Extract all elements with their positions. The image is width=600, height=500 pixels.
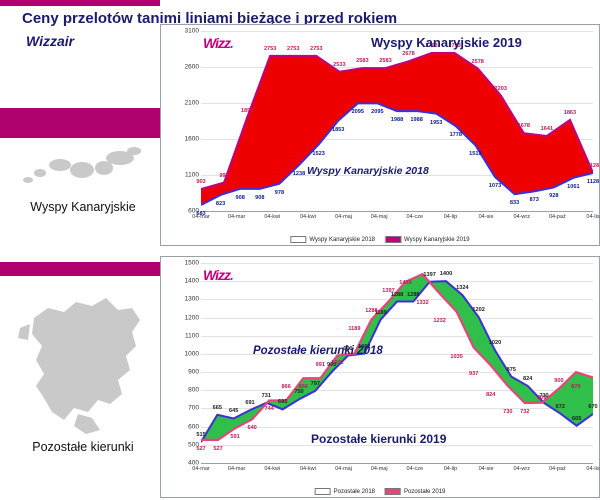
data-label: 2583: [356, 58, 368, 64]
y-axis-tick: 1500: [163, 260, 199, 267]
data-label: 1061: [567, 184, 579, 190]
wizzair-logo-top: Wizz.: [203, 35, 233, 51]
area-fill: [201, 274, 593, 442]
legend-label: Wyspy Kanaryjskie 2018: [309, 237, 375, 243]
data-label: 1523: [312, 151, 324, 157]
legend-swatch: [385, 236, 401, 243]
data-label: 875: [507, 367, 516, 373]
chart-other-legend: Pozostałe 2018Pozostałe 2019: [315, 488, 446, 495]
data-label: 1035: [450, 354, 462, 360]
data-label: 2678: [402, 51, 414, 57]
data-label: 2753: [287, 46, 299, 52]
series-line: [201, 281, 593, 442]
data-label: 1324: [456, 285, 468, 291]
y-axis-tick: 500: [163, 441, 199, 448]
legend-swatch: [315, 488, 331, 495]
data-label: 527: [196, 446, 205, 452]
x-axis-tick: 04-cze: [407, 214, 424, 220]
data-label: 809: [537, 395, 546, 401]
y-axis-tick: 900: [163, 369, 199, 376]
chart-canary-title: Wyspy Kanaryjskie 2019: [371, 35, 522, 50]
x-axis-tick: 04-lip: [444, 214, 457, 220]
legend-item[interactable]: Wyspy Kanaryjskie 2019: [385, 236, 470, 243]
x-axis-tick: 04-lip: [444, 466, 457, 472]
data-label: 527: [213, 446, 222, 452]
accent-band-top: [0, 0, 160, 6]
data-label: 1863: [564, 110, 576, 116]
accent-band-bottom: [0, 262, 160, 276]
data-label: 1073: [489, 183, 501, 189]
data-label: 833: [510, 200, 519, 206]
label-other-destinations: Pozostałe kierunki: [8, 440, 158, 454]
data-label: 1641: [541, 126, 553, 132]
area-fill: [201, 53, 593, 205]
data-label: 1128: [587, 179, 599, 185]
chart-other-inner-label-2018: Pozostałe kierunki 2018: [253, 345, 383, 357]
y-axis-tick: 1100: [163, 332, 199, 339]
legend-item[interactable]: Pozostałe 2018: [315, 488, 375, 495]
data-label: 1953: [430, 120, 442, 126]
data-label: 870: [571, 384, 580, 390]
data-label: 937: [469, 371, 478, 377]
europe-map: [14, 288, 150, 438]
data-label: 993: [219, 173, 228, 179]
data-label: 605: [572, 416, 581, 422]
accent-band-middle: [0, 108, 160, 138]
y-axis-tick: 2600: [163, 64, 199, 71]
data-label: 2203: [495, 86, 507, 92]
data-label: 2583: [379, 58, 391, 64]
legend-label: Pozostałe 2019: [404, 489, 445, 495]
x-axis-tick: 04-mar: [192, 214, 209, 220]
data-label: 691: [245, 400, 254, 406]
data-label: 1400: [440, 271, 452, 277]
data-label: 1128: [587, 163, 599, 169]
y-axis-tick: 1300: [163, 296, 199, 303]
legend-item[interactable]: Pozostałe 2019: [385, 488, 445, 495]
data-label: 866: [282, 384, 291, 390]
data-label: 1232: [433, 318, 445, 324]
y-axis-tick: 1600: [163, 136, 199, 143]
x-axis-tick: 04-maj: [371, 214, 388, 220]
data-label: 1288: [407, 292, 419, 298]
data-label: 824: [523, 376, 532, 382]
x-axis-tick: 04-lis: [586, 214, 599, 220]
x-axis-tick: 04-paź: [549, 466, 566, 472]
data-label: 2753: [264, 46, 276, 52]
y-axis-tick: 2100: [163, 100, 199, 107]
wizz-dot-bottom: .: [230, 267, 233, 283]
x-axis-tick: 04-kwi: [300, 214, 316, 220]
chart-canary-inner-label-2018: Wyspy Kanaryjskie 2018: [307, 165, 429, 177]
x-axis-tick: 04-cze: [407, 466, 424, 472]
left-info-panel: Wyspy Kanaryjskie Pozostałe kierunki: [0, 0, 160, 500]
wizz-dot-top: .: [230, 35, 233, 51]
x-axis-line: [201, 211, 593, 212]
data-label: 665: [213, 405, 222, 411]
legend-swatch: [385, 488, 401, 495]
data-label: 2095: [352, 109, 364, 115]
legend-item[interactable]: Wyspy Kanaryjskie 2018: [290, 236, 375, 243]
chart-canary-islands: 6001100160021002600310068382390890897812…: [160, 24, 600, 246]
data-label: 903: [196, 179, 205, 185]
x-axis-tick: 04-mar: [228, 466, 245, 472]
data-label: 908: [236, 195, 245, 201]
legend-label: Pozostałe 2018: [334, 489, 375, 495]
y-axis-tick: 600: [163, 423, 199, 430]
canary-islands-map: [12, 140, 152, 200]
x-axis-tick: 04-kwi: [264, 466, 280, 472]
wizz-wordmark-bottom: Wizz: [203, 267, 230, 283]
chart-canary-legend: Wyspy Kanaryjskie 2018Wyspy Kanaryjskie …: [290, 236, 469, 243]
y-axis-tick: 1400: [163, 278, 199, 285]
x-axis-tick: 04-mar: [228, 214, 245, 220]
wizzair-logo-bottom: Wizz.: [203, 267, 233, 283]
x-axis-tick: 04-mar: [192, 466, 209, 472]
data-label: 1397: [382, 288, 394, 294]
data-label: 1853: [332, 127, 344, 133]
y-axis-tick: 1200: [163, 314, 199, 321]
data-label: 1397: [423, 272, 435, 278]
x-axis-tick: 04-wrz: [513, 214, 530, 220]
data-label: 645: [229, 408, 238, 414]
data-label: 731: [262, 393, 271, 399]
data-label: 900: [554, 378, 563, 384]
data-label: 2578: [471, 59, 483, 65]
data-label: 1288: [365, 308, 377, 314]
data-label: 730: [503, 409, 512, 415]
data-label: 908: [255, 195, 264, 201]
x-axis-tick: 04-sie: [479, 466, 494, 472]
chart-canary-plot-area: 6001100160021002600310068382390890897812…: [201, 31, 593, 211]
x-axis-line: [201, 463, 593, 464]
legend-label: Wyspy Kanaryjskie 2019: [404, 237, 470, 243]
data-label: 2753: [310, 46, 322, 52]
data-label: 866: [299, 384, 308, 390]
data-label: 640: [247, 425, 256, 431]
data-label: 1189: [348, 326, 360, 332]
data-label: 1778: [450, 132, 462, 138]
y-axis-tick: 3100: [163, 28, 199, 35]
data-label: 1020: [489, 340, 501, 346]
chart-other-inner-label-2019: Pozostałe kierunki 2019: [311, 432, 446, 446]
chart-other-destinations: 4005006007008009001000110012001300140015…: [160, 256, 600, 498]
data-label: 515: [196, 432, 205, 438]
x-axis-tick: 04-lis: [586, 466, 599, 472]
data-label: 744: [265, 406, 274, 412]
x-axis-tick: 04-maj: [335, 466, 352, 472]
page-subtitle: Wizzair: [26, 33, 74, 49]
data-label: 928: [549, 193, 558, 199]
y-axis-tick: 700: [163, 405, 199, 412]
data-label: 1988: [410, 117, 422, 123]
x-axis-tick: 04-kwi: [300, 466, 316, 472]
data-label: 978: [275, 190, 284, 196]
data-label: 991: [316, 362, 325, 368]
data-label: 873: [530, 197, 539, 203]
data-label: 823: [216, 201, 225, 207]
data-label: 1893: [241, 108, 253, 114]
data-label: 1238: [293, 171, 305, 177]
x-axis-tick: 04-maj: [335, 214, 352, 220]
data-label: 695: [278, 399, 287, 405]
x-axis-tick: 04-paź: [549, 214, 566, 220]
data-label: 1332: [416, 300, 428, 306]
data-label: 824: [486, 392, 495, 398]
x-axis-tick: 04-maj: [371, 466, 388, 472]
legend-swatch: [290, 236, 306, 243]
data-label: 670: [588, 404, 597, 410]
y-axis-tick: 800: [163, 387, 199, 394]
x-axis-tick: 04-wrz: [513, 466, 530, 472]
data-label: 1988: [391, 117, 403, 123]
y-axis-tick: 1100: [163, 172, 199, 179]
data-label: 2533: [333, 62, 345, 68]
data-label: 1513: [469, 151, 481, 157]
label-canary-islands: Wyspy Kanaryjskie: [8, 200, 158, 214]
data-label: 1439: [399, 280, 411, 286]
x-axis-tick: 04-sie: [479, 214, 494, 220]
data-label: 1678: [518, 123, 530, 129]
data-label: 672: [556, 404, 565, 410]
wizz-wordmark-top: Wizz: [203, 35, 230, 51]
y-axis-tick: 1000: [163, 350, 199, 357]
data-label: 591: [230, 434, 239, 440]
data-label: 2095: [371, 109, 383, 115]
data-label: 1202: [472, 307, 484, 313]
x-axis-tick: 04-kwi: [264, 214, 280, 220]
data-label: 1002: [331, 360, 343, 366]
data-label: 732: [520, 409, 529, 415]
data-label: 797: [311, 381, 320, 387]
